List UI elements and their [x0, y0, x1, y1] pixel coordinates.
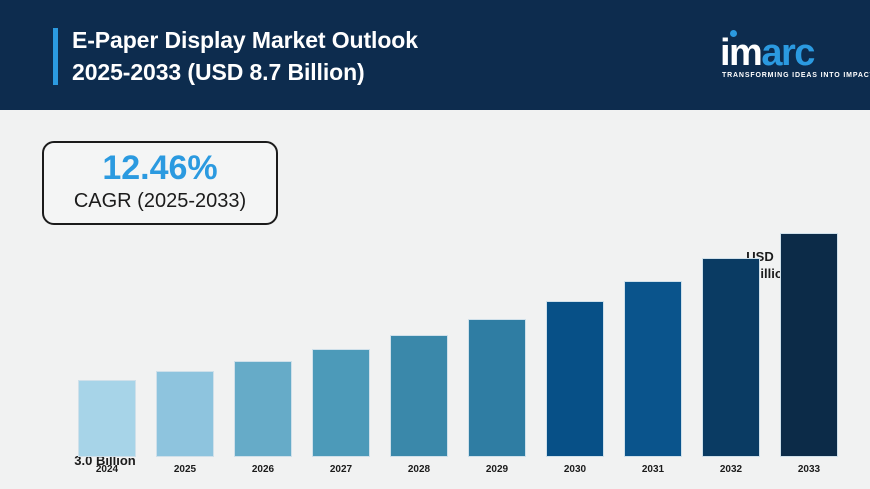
x-axis-label-2028: 2028 — [390, 464, 448, 475]
imarc-logo[interactable]: imarc TRANSFORMING IDEAS INTO IMPACT — [712, 28, 846, 84]
x-axis-label-2024: 2024 — [78, 464, 136, 475]
logo-tagline: TRANSFORMING IDEAS INTO IMPACT — [722, 72, 870, 79]
bar-column-2026[interactable]: 2026 — [234, 361, 292, 457]
bar-2029[interactable] — [468, 319, 526, 457]
bar-column-2030[interactable]: 2030 — [546, 301, 604, 457]
x-axis-label-2029: 2029 — [468, 464, 526, 475]
infographic-page: E-Paper Display Market Outlook 2025-2033… — [0, 0, 870, 489]
bar-column-2024[interactable]: 2024 — [78, 380, 136, 457]
title-accent-bar — [53, 28, 58, 85]
bar-2030[interactable] — [546, 301, 604, 457]
bar-column-2029[interactable]: 2029 — [468, 319, 526, 457]
bar-column-2025[interactable]: 2025 — [156, 371, 214, 457]
logo-word-cyan: arc — [761, 32, 814, 74]
bar-column-2033[interactable]: 2033 — [780, 233, 838, 457]
bar-2026[interactable] — [234, 361, 292, 457]
bar-column-2028[interactable]: 2028 — [390, 335, 448, 457]
bar-2027[interactable] — [312, 349, 370, 457]
logo-word-white: im — [720, 32, 761, 74]
x-axis-label-2031: 2031 — [624, 464, 682, 475]
bar-2028[interactable] — [390, 335, 448, 457]
x-axis-label-2032: 2032 — [702, 464, 760, 475]
x-axis-label-2027: 2027 — [312, 464, 370, 475]
page-title-line-2: 2025-2033 (USD 8.7 Billion) — [72, 56, 652, 88]
x-axis-label-2033: 2033 — [780, 464, 838, 475]
bar-2032[interactable] — [702, 258, 760, 457]
header-banner: E-Paper Display Market Outlook 2025-2033… — [0, 0, 870, 110]
bar-2025[interactable] — [156, 371, 214, 457]
x-axis-label-2026: 2026 — [234, 464, 292, 475]
bar-2031[interactable] — [624, 281, 682, 457]
logo-wordmark: imarc — [720, 34, 814, 72]
x-axis-label-2030: 2030 — [546, 464, 604, 475]
bar-chart: USD 3.0 Billion USD 8.7 Billion 20242025… — [0, 110, 870, 489]
bar-2024[interactable] — [78, 380, 136, 457]
bar-column-2032[interactable]: 2032 — [702, 258, 760, 457]
bar-column-2027[interactable]: 2027 — [312, 349, 370, 457]
page-title-line-1: E-Paper Display Market Outlook — [72, 24, 652, 56]
page-title: E-Paper Display Market Outlook 2025-2033… — [72, 24, 652, 88]
bar-column-2031[interactable]: 2031 — [624, 281, 682, 457]
x-axis-label-2025: 2025 — [156, 464, 214, 475]
bar-2033[interactable] — [780, 233, 838, 457]
